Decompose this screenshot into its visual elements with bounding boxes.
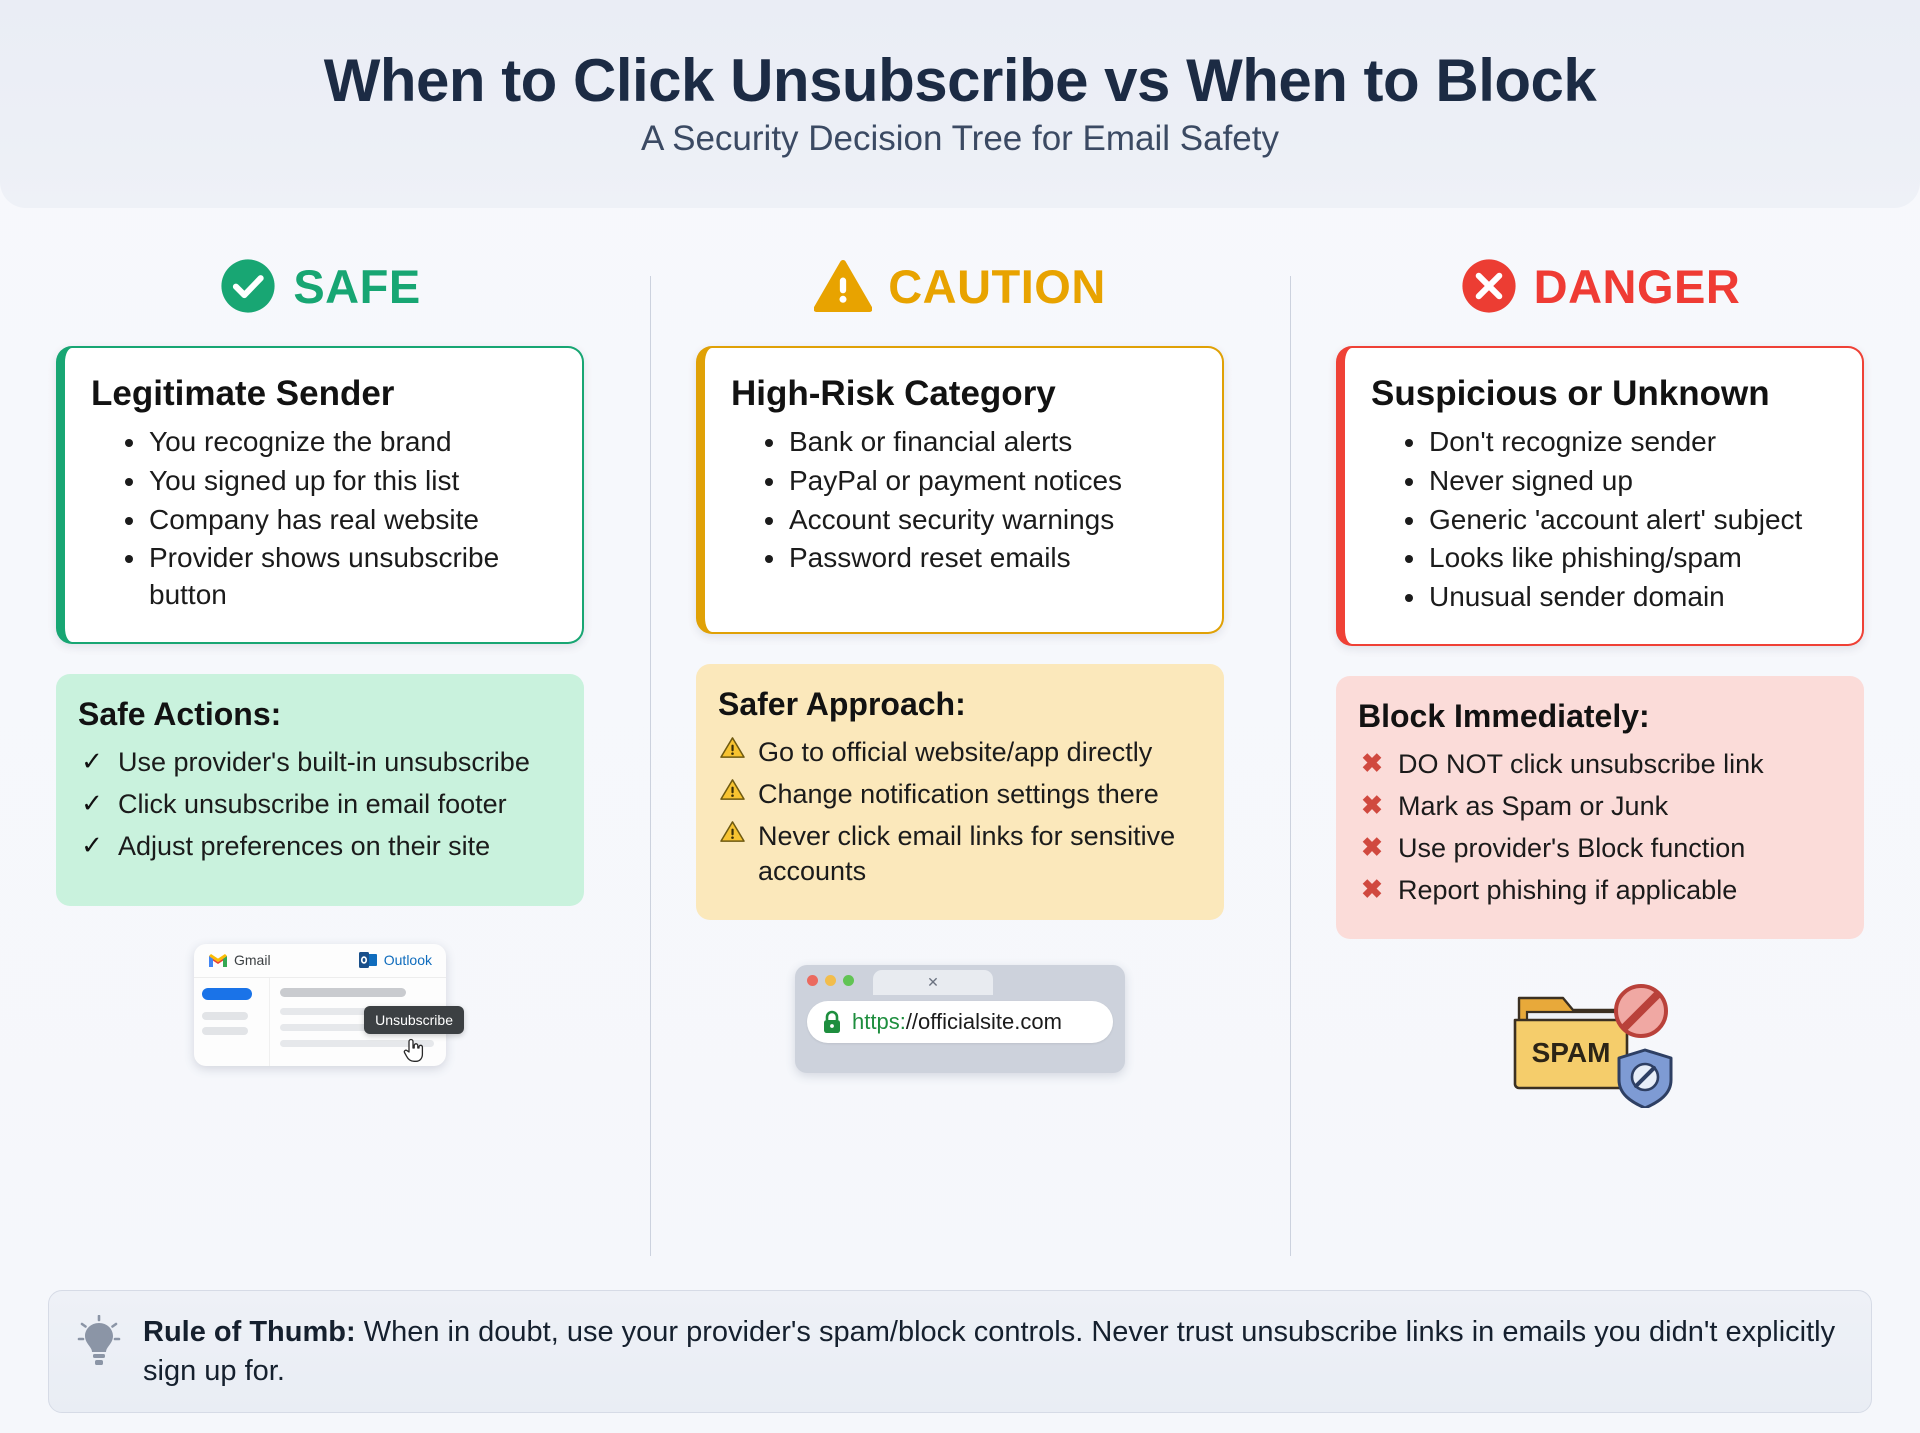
rule-of-thumb-lead: Rule of Thumb: bbox=[143, 1316, 356, 1348]
lightbulb-icon bbox=[77, 1315, 121, 1367]
column-caution: CAUTION High-Risk Category Bank or finan… bbox=[640, 236, 1280, 1266]
x-circle-icon bbox=[1460, 257, 1518, 315]
spam-folder-art: SPAM bbox=[1505, 968, 1695, 1108]
check-circle-icon bbox=[219, 257, 277, 315]
list-item: Generic 'account alert' subject bbox=[1405, 502, 1836, 539]
action-list-danger: ✖ DO NOT click unsubscribe link ✖ Mark a… bbox=[1358, 747, 1840, 908]
column-header-safe: SAFE bbox=[56, 236, 584, 336]
browser-address-bar-mock: ✕ https://officialsite.com bbox=[795, 965, 1125, 1073]
check-mark-icon: ✓ bbox=[78, 787, 106, 821]
list-item: Change notification settings there bbox=[718, 777, 1200, 812]
list-item: PayPal or payment notices bbox=[765, 463, 1196, 500]
list-item: ✓ Click unsubscribe in email footer bbox=[78, 787, 560, 822]
action-title-safe: Safe Actions: bbox=[78, 696, 560, 733]
column-label-safe: SAFE bbox=[293, 263, 420, 310]
column-header-caution: CAUTION bbox=[696, 236, 1224, 336]
message-placeholder-line bbox=[280, 988, 406, 997]
url-text: https://officialsite.com bbox=[852, 1009, 1062, 1035]
gmail-brand: Gmail bbox=[208, 952, 271, 968]
list-item: You recognize the brand bbox=[125, 424, 556, 461]
browser-tab[interactable]: ✕ bbox=[873, 970, 993, 995]
criteria-card-safe: Legitimate Sender You recognize the bran… bbox=[56, 346, 584, 644]
mail-clients-mock: Gmail Outlook bbox=[194, 944, 446, 1066]
url-host: //officialsite.com bbox=[906, 1009, 1062, 1034]
action-list-safe: ✓ Use provider's built-in unsubscribe ✓ … bbox=[78, 745, 560, 864]
list-item: Provider shows unsubscribe button bbox=[125, 540, 556, 613]
column-safe: SAFE Legitimate Sender You recognize the… bbox=[0, 236, 640, 1266]
column-danger: DANGER Suspicious or Unknown Don't recog… bbox=[1280, 236, 1920, 1266]
criteria-title-safe: Legitimate Sender bbox=[91, 374, 556, 414]
list-item: Don't recognize sender bbox=[1405, 424, 1836, 461]
list-item: You signed up for this list bbox=[125, 463, 556, 500]
action-item-text: Use provider's Block function bbox=[1398, 831, 1840, 866]
outlook-brand: Outlook bbox=[359, 952, 432, 968]
illustration-caution: ✕ https://officialsite.com bbox=[696, 944, 1224, 1094]
criteria-list-danger: Don't recognize sender Never signed up G… bbox=[1371, 424, 1836, 615]
criteria-card-danger: Suspicious or Unknown Don't recognize se… bbox=[1336, 346, 1864, 646]
action-item-text: Change notification settings there bbox=[758, 777, 1200, 812]
list-item: Looks like phishing/spam bbox=[1405, 540, 1836, 577]
hand-cursor-icon bbox=[402, 1036, 424, 1062]
action-item-text: Never click email links for sensitive ac… bbox=[758, 819, 1200, 889]
unsubscribe-tooltip[interactable]: Unsubscribe bbox=[364, 1006, 464, 1034]
x-mark-icon: ✖ bbox=[1358, 831, 1386, 865]
page-title: When to Click Unsubscribe vs When to Blo… bbox=[324, 49, 1597, 114]
sidebar-placeholder-line bbox=[202, 1027, 248, 1035]
close-dot-icon[interactable] bbox=[807, 975, 818, 986]
column-header-danger: DANGER bbox=[1336, 236, 1864, 336]
action-box-safe: Safe Actions: ✓ Use provider's built-in … bbox=[56, 674, 584, 906]
warning-triangle-icon bbox=[718, 819, 746, 852]
header-banner: When to Click Unsubscribe vs When to Blo… bbox=[0, 0, 1920, 208]
url-scheme: https: bbox=[852, 1009, 906, 1034]
criteria-list-caution: Bank or financial alerts PayPal or payme… bbox=[731, 424, 1196, 577]
mail-mock-sidebar bbox=[194, 978, 270, 1066]
gmail-icon bbox=[208, 953, 228, 968]
list-item: ✖ Report phishing if applicable bbox=[1358, 873, 1840, 908]
x-mark-icon: ✖ bbox=[1358, 873, 1386, 907]
illustration-danger: SPAM bbox=[1336, 963, 1864, 1113]
illustration-safe: Gmail Outlook bbox=[56, 930, 584, 1080]
warning-triangle-icon bbox=[718, 735, 746, 768]
column-label-danger: DANGER bbox=[1534, 263, 1741, 310]
decision-columns: SAFE Legitimate Sender You recognize the… bbox=[0, 236, 1920, 1266]
minimize-dot-icon[interactable] bbox=[825, 975, 836, 986]
action-box-caution: Safer Approach: Go to official website/a… bbox=[696, 664, 1224, 920]
check-mark-icon: ✓ bbox=[78, 745, 106, 779]
list-item: Password reset emails bbox=[765, 540, 1196, 577]
list-item: Company has real website bbox=[125, 502, 556, 539]
action-item-text: Mark as Spam or Junk bbox=[1398, 789, 1840, 824]
action-list-caution: Go to official website/app directly Chan… bbox=[718, 735, 1200, 889]
list-item: ✓ Use provider's built-in unsubscribe bbox=[78, 745, 560, 780]
rule-of-thumb-body: When in doubt, use your provider's spam/… bbox=[143, 1316, 1835, 1387]
check-mark-icon: ✓ bbox=[78, 829, 106, 863]
action-title-caution: Safer Approach: bbox=[718, 686, 1200, 723]
column-label-caution: CAUTION bbox=[888, 263, 1106, 310]
gmail-label: Gmail bbox=[234, 952, 271, 968]
action-item-text: Report phishing if applicable bbox=[1398, 873, 1840, 908]
warning-triangle-icon bbox=[814, 257, 872, 315]
list-item: ✖ DO NOT click unsubscribe link bbox=[1358, 747, 1840, 782]
action-item-text: Use provider's built-in unsubscribe bbox=[118, 745, 560, 780]
list-item: ✓ Adjust preferences on their site bbox=[78, 829, 560, 864]
action-box-danger: Block Immediately: ✖ DO NOT click unsubs… bbox=[1336, 676, 1864, 939]
outlook-icon bbox=[359, 952, 378, 968]
mail-mock-toolbar: Gmail Outlook bbox=[194, 944, 446, 978]
list-item: ✖ Use provider's Block function bbox=[1358, 831, 1840, 866]
spam-folder-label: SPAM bbox=[1532, 1037, 1611, 1068]
criteria-list-safe: You recognize the brand You signed up fo… bbox=[91, 424, 556, 613]
list-item: Go to official website/app directly bbox=[718, 735, 1200, 770]
list-item: Unusual sender domain bbox=[1405, 579, 1836, 616]
rule-of-thumb-banner: Rule of Thumb: When in doubt, use your p… bbox=[48, 1290, 1872, 1413]
outlook-label: Outlook bbox=[384, 952, 432, 968]
action-item-text: DO NOT click unsubscribe link bbox=[1398, 747, 1840, 782]
list-item: Account security warnings bbox=[765, 502, 1196, 539]
criteria-title-danger: Suspicious or Unknown bbox=[1371, 374, 1836, 414]
action-item-text: Go to official website/app directly bbox=[758, 735, 1200, 770]
list-item: Bank or financial alerts bbox=[765, 424, 1196, 461]
warning-triangle-icon bbox=[718, 777, 746, 810]
maximize-dot-icon[interactable] bbox=[843, 975, 854, 986]
close-icon[interactable]: ✕ bbox=[927, 974, 939, 991]
padlock-icon bbox=[821, 1010, 843, 1035]
action-item-text: Adjust preferences on their site bbox=[118, 829, 560, 864]
rule-of-thumb-text: Rule of Thumb: When in doubt, use your p… bbox=[143, 1313, 1843, 1390]
x-mark-icon: ✖ bbox=[1358, 747, 1386, 781]
action-item-text: Click unsubscribe in email footer bbox=[118, 787, 560, 822]
infographic-page: When to Click Unsubscribe vs When to Blo… bbox=[0, 0, 1920, 1433]
list-item: Never click email links for sensitive ac… bbox=[718, 819, 1200, 889]
compose-pill bbox=[202, 988, 252, 1000]
page-subtitle: A Security Decision Tree for Email Safet… bbox=[641, 119, 1279, 159]
sidebar-placeholder-line bbox=[202, 1012, 248, 1020]
x-mark-icon: ✖ bbox=[1358, 789, 1386, 823]
action-title-danger: Block Immediately: bbox=[1358, 698, 1840, 735]
url-bar[interactable]: https://officialsite.com bbox=[807, 1001, 1113, 1043]
list-item: Never signed up bbox=[1405, 463, 1836, 500]
criteria-title-caution: High-Risk Category bbox=[731, 374, 1196, 414]
criteria-card-caution: High-Risk Category Bank or financial ale… bbox=[696, 346, 1224, 634]
list-item: ✖ Mark as Spam or Junk bbox=[1358, 789, 1840, 824]
